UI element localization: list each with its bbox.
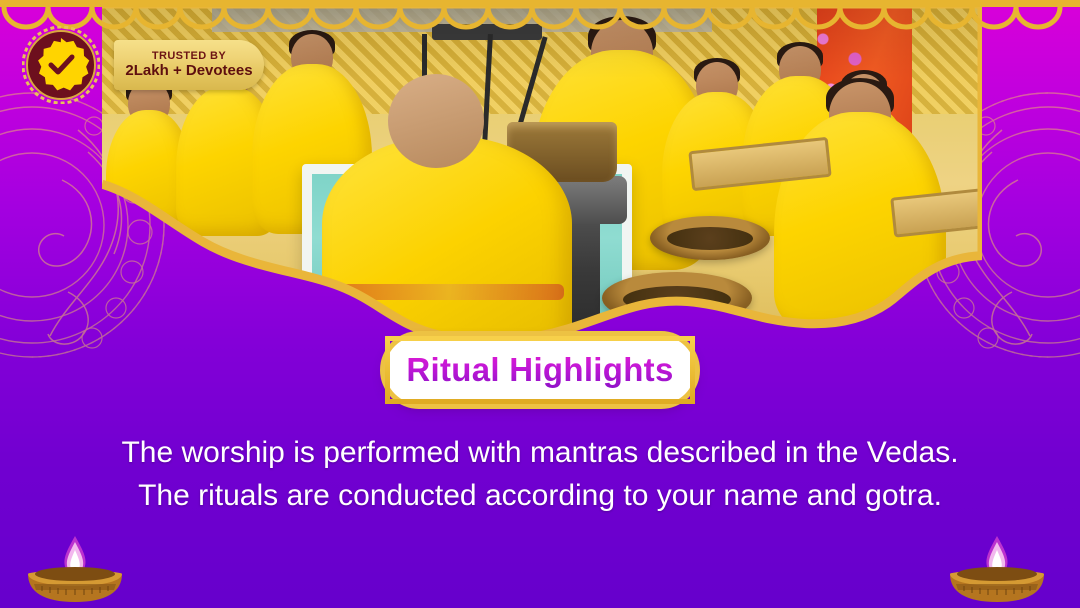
description-line-2: The rituals are conducted according to y… (0, 475, 1080, 518)
trust-badge-ribbon: TRUSTED BY 2Lakh + Devotees (114, 40, 264, 90)
page-title: Ritual Highlights (385, 336, 695, 404)
devotee-count-label: 2Lakh + Devotees (125, 62, 252, 81)
description-line-1: The worship is performed with mantras de… (0, 432, 1080, 475)
verified-check-icon (22, 26, 100, 104)
page-title-text: Ritual Highlights (406, 351, 673, 389)
description-text: The worship is performed with mantras de… (0, 432, 1080, 517)
diya-lamp-icon-left (10, 518, 140, 604)
trusted-by-label: TRUSTED BY (152, 50, 226, 62)
diya-lamp-icon-right (932, 518, 1062, 604)
